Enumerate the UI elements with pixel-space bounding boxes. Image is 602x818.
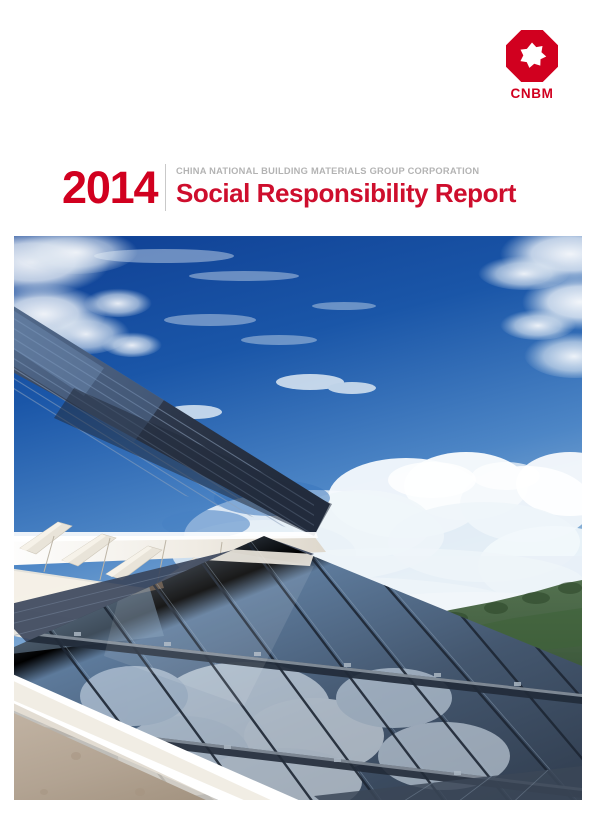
octagon-star-logo-icon [506,30,558,82]
cnbm-logo: CNBM [497,30,567,101]
page-title: Social Responsibility Report [176,177,516,210]
cover-photograph [14,236,582,800]
cover-title-block: 2014 CHINA NATIONAL BUILDING MATERIALS G… [62,163,532,217]
title-divider [165,164,166,211]
company-name: CHINA NATIONAL BUILDING MATERIALS GROUP … [176,163,516,177]
solar-panel-roof-illustration [14,236,582,800]
title-text-group: CHINA NATIONAL BUILDING MATERIALS GROUP … [176,163,516,210]
report-year: 2014 [62,163,157,213]
logo-wordmark: CNBM [497,87,567,101]
